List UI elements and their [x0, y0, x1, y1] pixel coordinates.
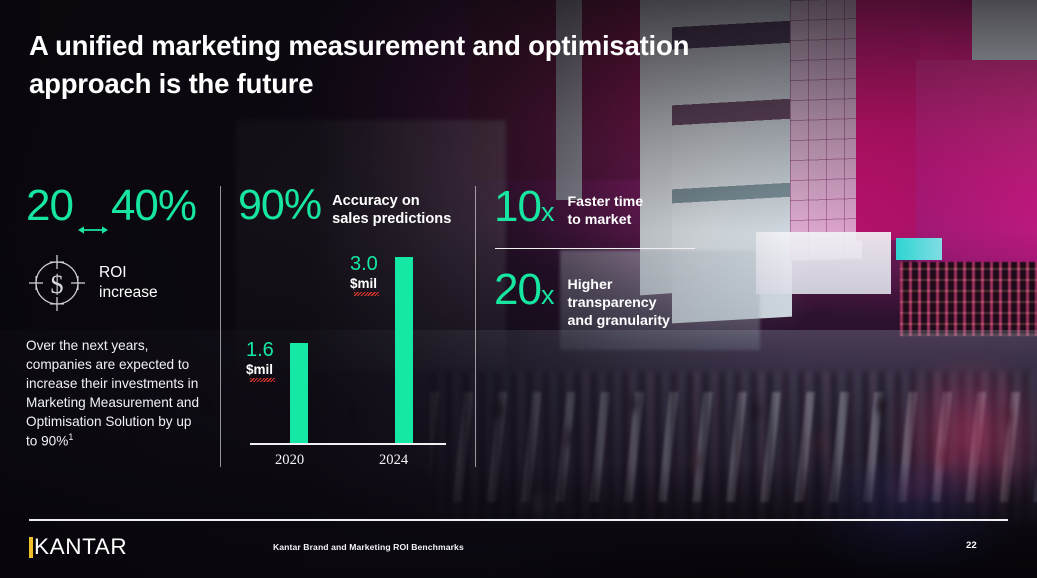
bar-unit-2020: $mil: [246, 362, 273, 378]
kantar-logo-text: KANTAR: [34, 536, 127, 559]
roi-body-footnote-marker: 1: [68, 432, 73, 442]
column-divider-1: [220, 186, 221, 467]
roi-stat-range: 20 40%: [26, 184, 212, 228]
kpi-2-caption-line1: Higher: [567, 277, 612, 293]
double-headed-arrow-icon: [78, 201, 108, 215]
kpi-column: 10x Faster time to market 20x Higher tra…: [494, 186, 724, 331]
bar-label-2020: 1.6 $mil: [246, 340, 274, 379]
roi-body-text: Over the next years, companies are expec…: [26, 336, 204, 451]
accuracy-caption: Accuracy on sales predictions: [332, 193, 451, 229]
kpi-2-caption-line2: transparency: [567, 295, 656, 311]
accuracy-column: 90% Accuracy on sales predictions: [238, 184, 468, 229]
kpi-2-caption-line3: and granularity: [567, 313, 670, 329]
kpi-faster-time-to-market: 10x Faster time to market: [494, 186, 724, 230]
roi-label-line1: ROI: [99, 264, 127, 281]
roi-stat-to: 40%: [111, 184, 196, 228]
kpi-1-caption-line2: to market: [567, 212, 631, 228]
kpi-higher-transparency: 20x Higher transparency and granularity: [494, 269, 724, 331]
kpi-1-caption: Faster time to market: [567, 194, 643, 230]
roi-body-copy: Over the next years, companies are expec…: [26, 338, 199, 449]
kantar-logo: KANTAR: [29, 536, 127, 559]
kpi-1-multiplier: x: [541, 197, 554, 227]
chart-tick-2024: 2024: [379, 452, 408, 469]
svg-text:$: $: [51, 270, 64, 299]
page-number: 22: [966, 540, 977, 551]
roi-icon-row: $ ROI increase: [26, 252, 212, 314]
accuracy-caption-line1: Accuracy on: [332, 193, 420, 209]
bar-unit-2024: $mil: [350, 276, 377, 292]
bar-2024: [395, 257, 413, 443]
kantar-logo-accent-bar: [29, 537, 33, 558]
bar-2020: [290, 343, 308, 443]
accuracy-caption-line2: sales predictions: [332, 211, 451, 227]
chart-axis-line: [250, 443, 446, 445]
bar-value-2024: 3.0: [350, 254, 378, 275]
roi-stat-from: 20: [26, 184, 73, 228]
kpi-1-value: 10x: [494, 186, 553, 228]
roi-column: 20 40%: [26, 184, 212, 451]
footer-divider: [29, 519, 1008, 521]
roi-label: ROI increase: [99, 263, 158, 303]
accuracy-stat: 90%: [238, 184, 321, 227]
kpi-2-caption: Higher transparency and granularity: [567, 277, 670, 331]
footer-note: Kantar Brand and Marketing ROI Benchmark…: [273, 542, 464, 552]
investment-bar-chart: 3.0 $mil 1.6 $mil 2020 2024: [238, 245, 468, 480]
bar-label-2024: 3.0 $mil: [350, 254, 378, 293]
bar-value-2020: 1.6: [246, 340, 274, 361]
kpi-2-value: 20x: [494, 269, 553, 311]
kpi-2-multiplier: x: [541, 280, 554, 310]
slide: A unified marketing measurement and opti…: [0, 0, 1037, 578]
chart-tick-2020: 2020: [275, 452, 304, 469]
spellcheck-squiggle-icon: [250, 378, 275, 382]
kpi-1-caption-line1: Faster time: [567, 194, 643, 210]
page-title: A unified marketing measurement and opti…: [29, 27, 709, 102]
kpi-divider: [495, 248, 695, 250]
spellcheck-squiggle-icon: [354, 292, 379, 296]
dollar-target-icon: $: [26, 252, 88, 314]
roi-label-line2: increase: [99, 284, 158, 301]
column-divider-2: [475, 186, 476, 467]
